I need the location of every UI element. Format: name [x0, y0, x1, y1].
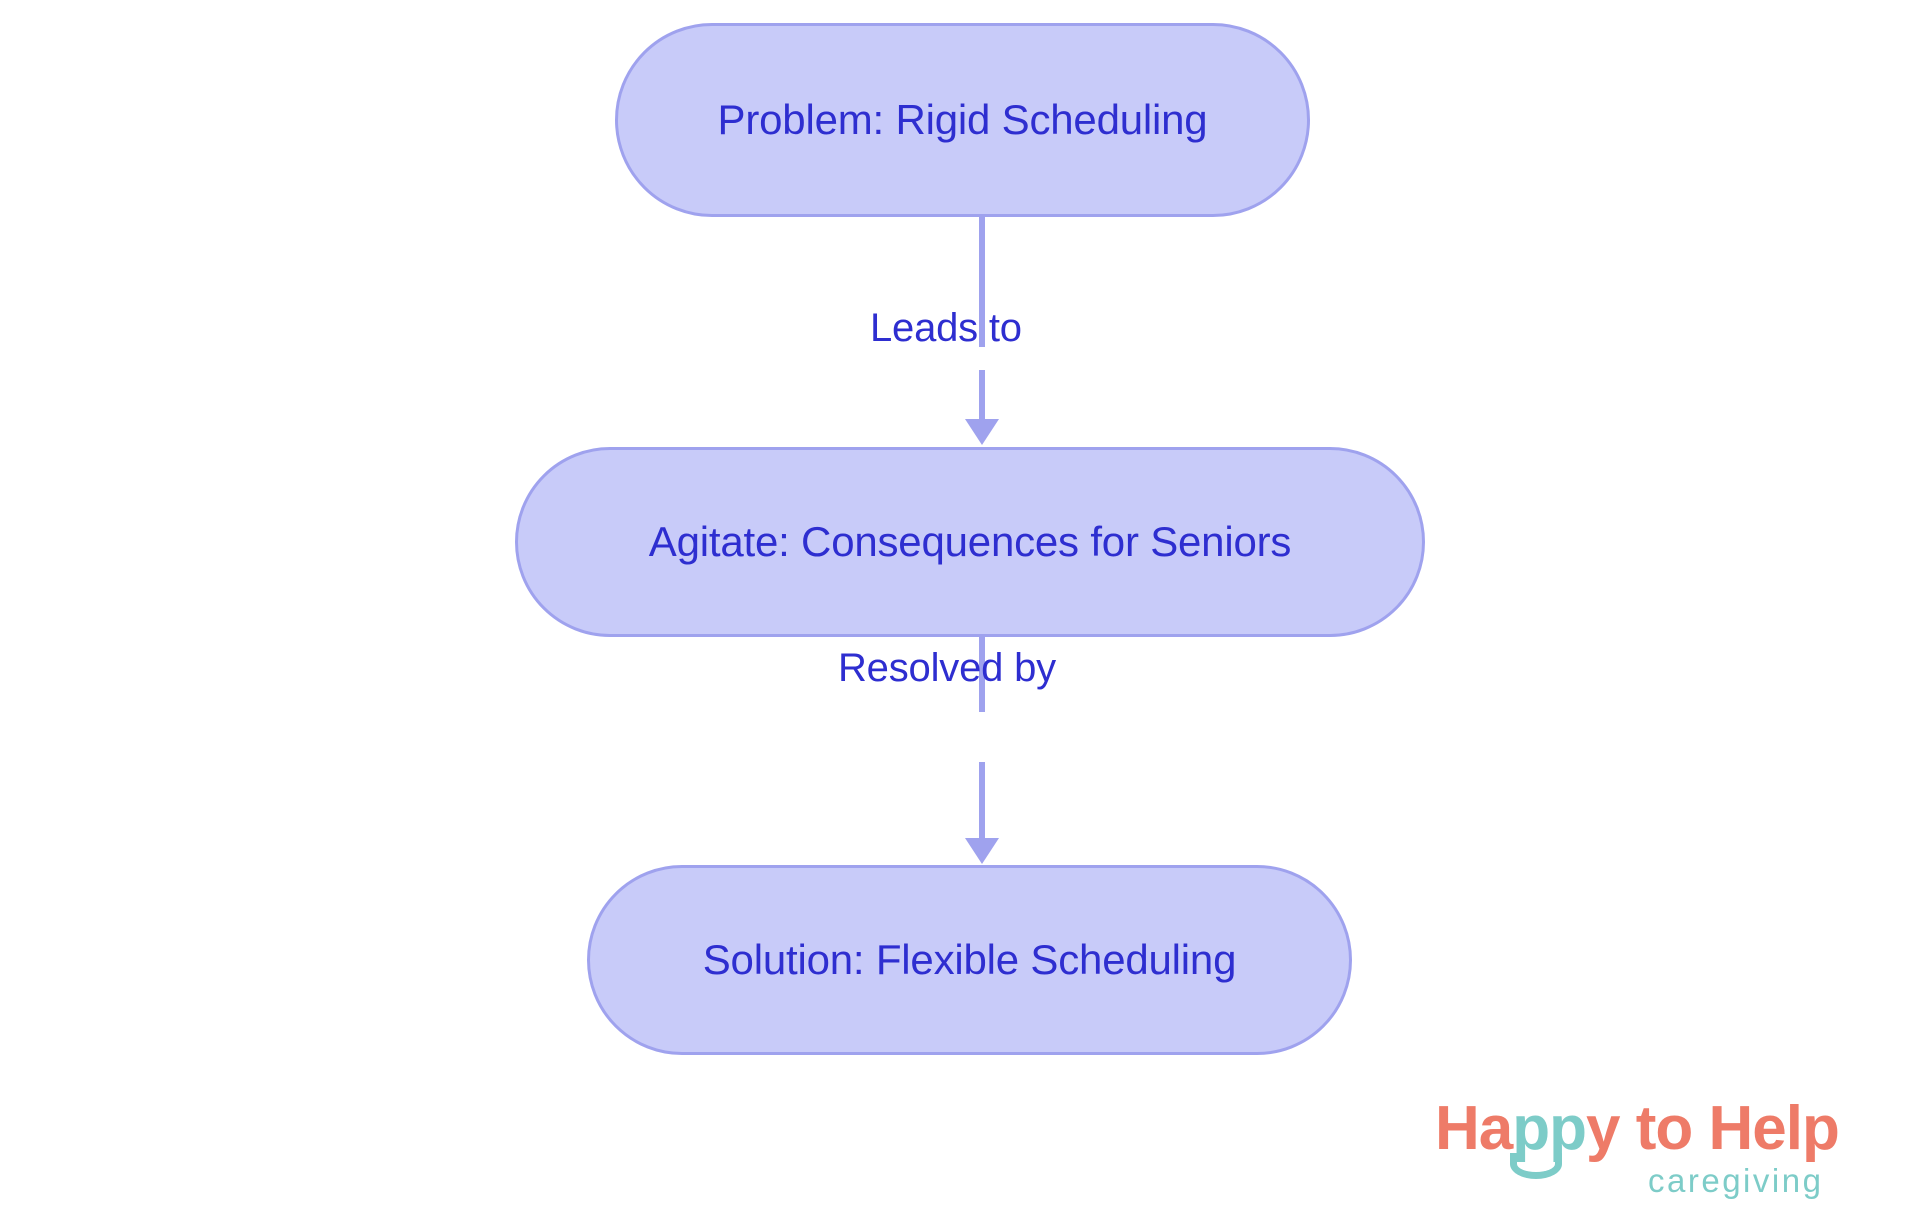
smile-arc-icon	[1510, 1153, 1562, 1179]
brand-logo: Happy to Help caregiving	[1435, 1098, 1905, 1208]
brand-wordmark-part-3: y to Help	[1586, 1094, 1839, 1163]
brand-wordmark-part-1: Ha	[1435, 1094, 1512, 1163]
flow-edge-label-resolved-by: Resolved by	[838, 648, 1056, 688]
flowchart-canvas: Problem: Rigid Scheduling Leads to Agita…	[0, 0, 1920, 1215]
edge-line-segment-lower	[979, 762, 985, 840]
brand-tagline: caregiving	[1648, 1164, 1823, 1197]
flow-node-solution-label: Solution: Flexible Scheduling	[703, 937, 1237, 983]
flow-node-solution[interactable]: Solution: Flexible Scheduling	[587, 865, 1352, 1055]
arrowhead-down-icon	[965, 838, 999, 864]
brand-wordmark: Happy to Help	[1435, 1098, 1839, 1160]
